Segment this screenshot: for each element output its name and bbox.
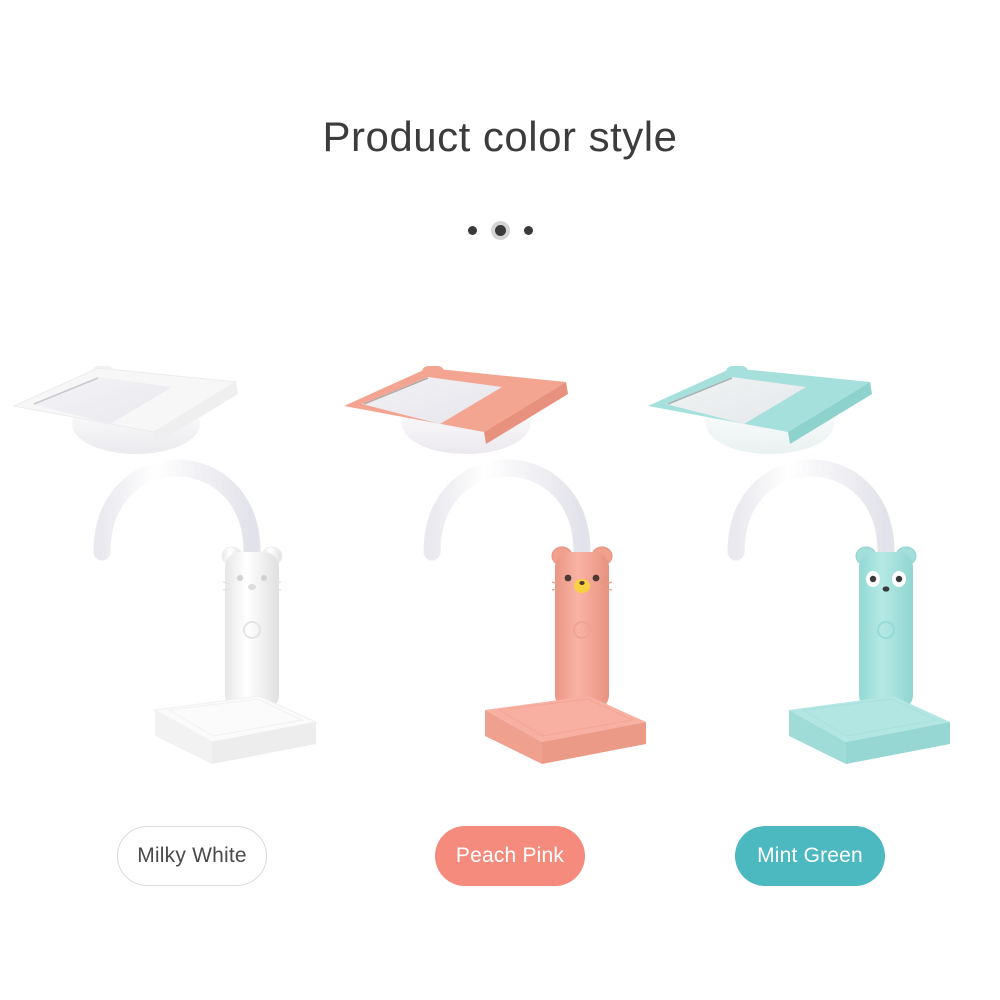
character-nose bbox=[248, 584, 256, 590]
carousel-dot-3[interactable] bbox=[524, 226, 533, 235]
carousel-dot-2[interactable] bbox=[495, 225, 506, 236]
character-eye-right bbox=[896, 576, 902, 582]
product-showcase bbox=[0, 290, 1000, 850]
lamp-body bbox=[555, 552, 609, 710]
lamp-gooseneck bbox=[432, 468, 582, 552]
color-label-mint-green[interactable]: Mint Green bbox=[735, 826, 885, 886]
character-eye-right bbox=[593, 575, 600, 582]
product-item-peach-pink[interactable] bbox=[336, 290, 670, 850]
product-item-milky-white[interactable] bbox=[6, 290, 340, 850]
lamp-gooseneck bbox=[736, 468, 886, 552]
character-eye-left bbox=[870, 576, 876, 582]
product-color-style-page: Product color style bbox=[0, 0, 1000, 1000]
character-eye-left bbox=[237, 575, 243, 581]
lamp-gooseneck bbox=[102, 468, 252, 552]
color-label-milky-white[interactable]: Milky White bbox=[117, 826, 267, 886]
color-label-peach-pink[interactable]: Peach Pink bbox=[435, 826, 585, 886]
page-title: Product color style bbox=[0, 116, 1000, 158]
product-item-mint-green[interactable] bbox=[640, 290, 974, 850]
carousel-dots[interactable] bbox=[0, 225, 1000, 236]
character-nose bbox=[579, 581, 584, 585]
character-nose bbox=[883, 586, 890, 591]
character-eye-right bbox=[261, 575, 267, 581]
carousel-dot-1[interactable] bbox=[468, 226, 477, 235]
character-eye-left bbox=[565, 575, 572, 582]
lamp-body bbox=[225, 552, 279, 710]
color-variant-labels: Milky White Peach Pink Mint Green bbox=[0, 826, 1000, 888]
